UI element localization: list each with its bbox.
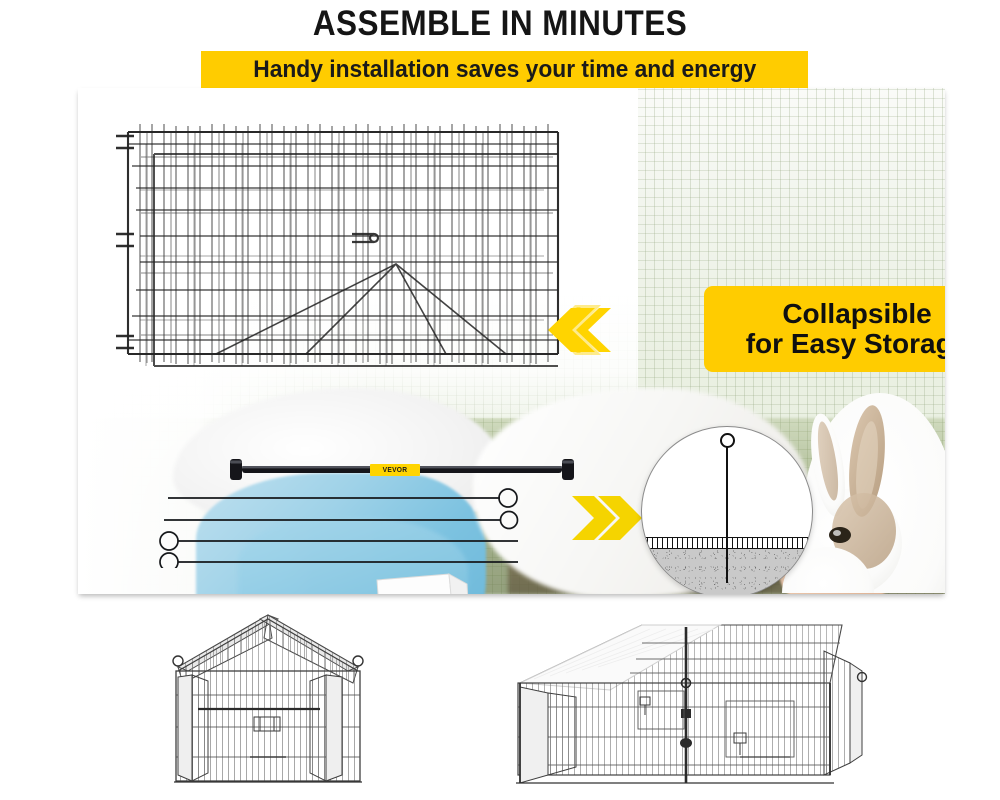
- subtitle-banner: Handy installation saves your time and e…: [201, 51, 808, 89]
- main-photo-panel: Collapsible for Easy Storage VEVOR: [78, 88, 945, 594]
- callout-line-2: for Easy Storage: [746, 329, 945, 359]
- product-shot-peaked-pen: [150, 605, 440, 790]
- callout-line-1: Collapsible: [782, 299, 931, 329]
- ground-nail-set: [138, 486, 558, 568]
- ground-nail-inset: [641, 426, 813, 594]
- page-title: ASSEMBLE IN MINUTES: [50, 4, 950, 44]
- vevor-logo-text: VEVOR: [383, 467, 408, 474]
- support-bar: VEVOR: [228, 456, 576, 484]
- double-chevron-left-icon: [535, 305, 613, 355]
- double-chevron-right-icon: [566, 490, 646, 546]
- subtitle-text: Handy installation saves your time and e…: [253, 56, 756, 84]
- collapsible-callout: Collapsible for Easy Storage: [704, 286, 945, 372]
- stake-shaft-icon: [726, 441, 728, 583]
- ground-caption-line-1: Ground: [558, 593, 945, 594]
- collapsed-panel-stack: [106, 114, 576, 374]
- vevor-logo-tag: VEVOR: [370, 464, 420, 476]
- folded-cover: [371, 566, 477, 594]
- marketing-image: ASSEMBLE IN MINUTES Handy installation s…: [0, 0, 1000, 800]
- product-shot-pen-with-cover: [490, 605, 890, 790]
- stake-loop-head-icon: [720, 433, 735, 448]
- ground-nails-caption: Ground Nails for Stability: [558, 593, 945, 594]
